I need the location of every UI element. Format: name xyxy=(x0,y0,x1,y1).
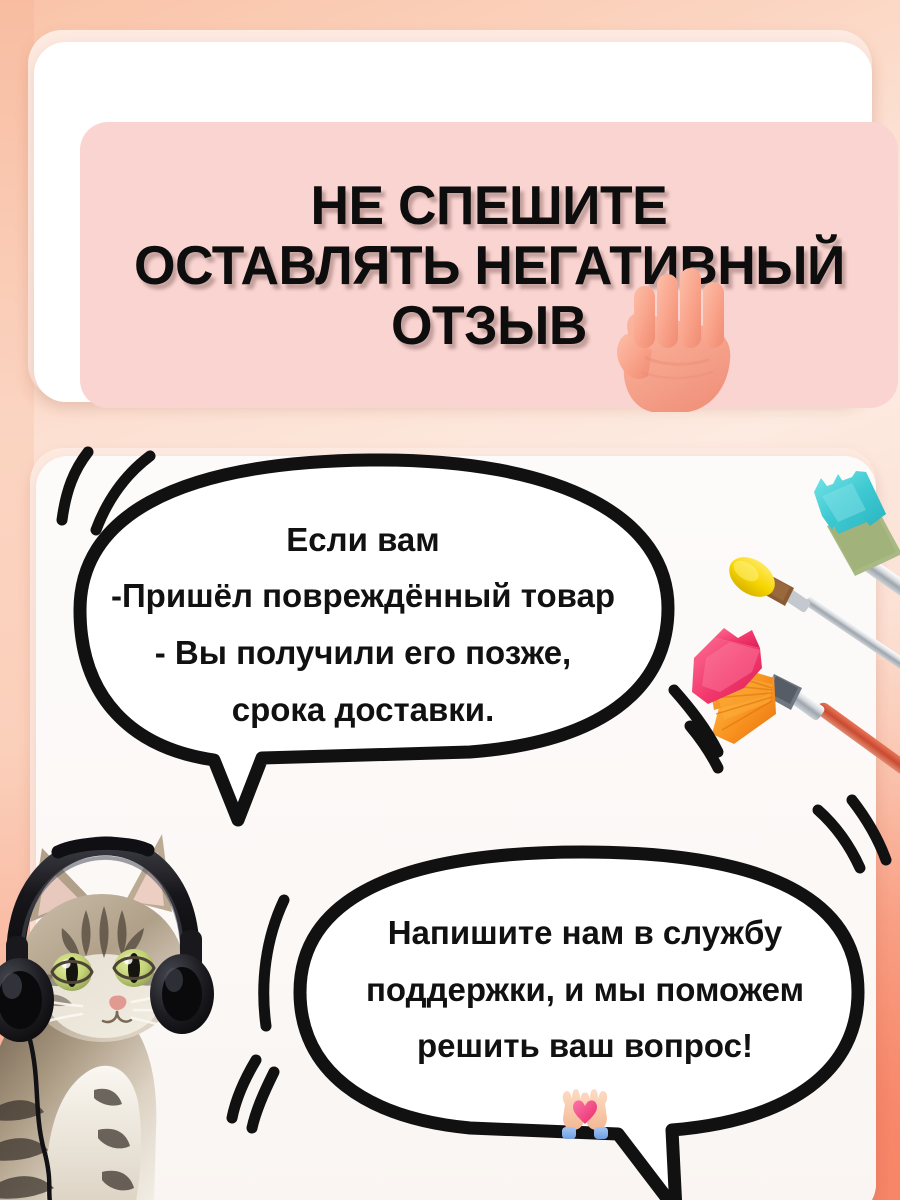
bubble-2-line-1: Напишите нам в службу xyxy=(388,905,783,962)
header-card: НЕ СПЕШИТЕ ОСТАВЛЯТЬ НЕГАТИВНЫЙ ОТЗЫВ xyxy=(34,42,872,402)
page-title-line-3: ОТЗЫВ xyxy=(391,296,587,354)
bubble-1-line-3: - Вы получили его позже, xyxy=(155,625,571,682)
page-title-line-1: НЕ СПЕШИТЕ xyxy=(311,176,668,234)
bubble-1-line-4: срока доставки. xyxy=(232,682,495,739)
bubble-1-line-2: -Пришёл повреждённый товар xyxy=(111,568,615,625)
bubble-2-line-3: решить ваш вопрос! xyxy=(417,1018,753,1075)
header-pink-panel: НЕ СПЕШИТЕ ОСТАВЛЯТЬ НЕГАТИВНЫЙ ОТЗЫВ xyxy=(80,122,898,408)
speech-bubble-support-text: Напишите нам в службу поддержки, и мы по… xyxy=(300,890,870,1090)
bubble-2-line-2: поддержки, и мы поможем xyxy=(366,962,804,1019)
page-title: НЕ СПЕШИТЕ ОСТАВЛЯТЬ НЕГАТИВНЫЙ ОТЗЫВ xyxy=(80,122,898,408)
page-title-line-2: ОСТАВЛЯТЬ НЕГАТИВНЫЙ xyxy=(134,236,845,294)
poster-canvas: НЕ СПЕШИТЕ ОСТАВЛЯТЬ НЕГАТИВНЫЙ ОТЗЫВ xyxy=(0,0,900,1200)
speech-bubble-cat-text: Если вам -Пришёл повреждённый товар - Вы… xyxy=(48,500,678,750)
bubble-1-line-1: Если вам xyxy=(286,512,439,569)
